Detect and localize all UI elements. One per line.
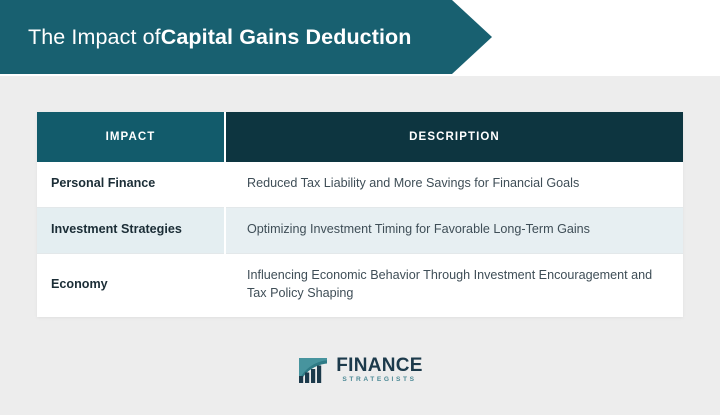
table-body: Personal Finance Reduced Tax Liability a…: [37, 162, 683, 317]
table-row: Personal Finance Reduced Tax Liability a…: [37, 162, 683, 207]
page-title-bold: Capital Gains Deduction: [161, 25, 412, 50]
cell-impact: Economy: [37, 253, 225, 316]
brand-logo: FINANCE STRATEGISTS: [0, 348, 720, 392]
column-header-impact: IMPACT: [37, 112, 225, 162]
column-header-description: DESCRIPTION: [225, 112, 683, 162]
page-title: The Impact of Capital Gains Deduction: [28, 0, 412, 74]
table-row: Investment Strategies Optimizing Investm…: [37, 207, 683, 253]
table-row: Economy Influencing Economic Behavior Th…: [37, 253, 683, 316]
cell-impact: Investment Strategies: [37, 207, 225, 253]
cell-description: Optimizing Investment Timing for Favorab…: [225, 207, 683, 253]
cell-description: Reduced Tax Liability and More Savings f…: [225, 162, 683, 207]
brand-name-primary: FINANCE: [336, 356, 423, 375]
page-title-light: The Impact of: [28, 25, 161, 50]
brand-name-secondary: STRATEGISTS: [336, 377, 423, 384]
brand-logo-wordmark: FINANCE STRATEGISTS: [336, 356, 423, 384]
cell-impact: Personal Finance: [37, 162, 225, 207]
table-header: IMPACT DESCRIPTION: [37, 112, 683, 162]
table-header-row: IMPACT DESCRIPTION: [37, 112, 683, 162]
brand-logo-inner: FINANCE STRATEGISTS: [297, 355, 423, 385]
impact-description-table: IMPACT DESCRIPTION Personal Finance Redu…: [37, 112, 683, 317]
finance-strategists-bar-chart-logo-icon: [297, 355, 331, 385]
cell-description: Influencing Economic Behavior Through In…: [225, 253, 683, 316]
header-banner-area: The Impact of Capital Gains Deduction: [0, 0, 720, 76]
